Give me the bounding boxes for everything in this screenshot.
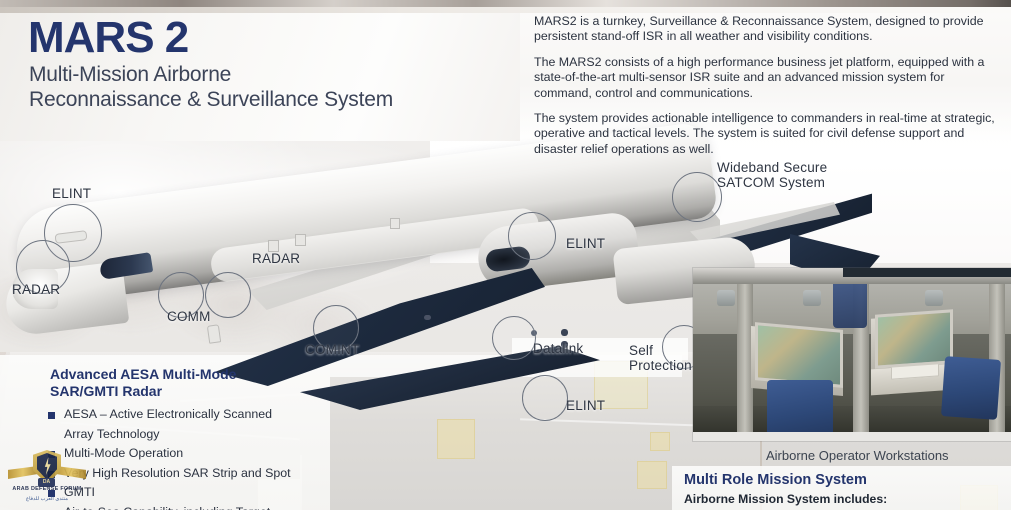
radar-feature-list: AESA – Active Electronically Scanned Arr… [48,406,330,510]
subtitle-line-1: Multi-Mission Airborne [29,63,231,86]
radar-bullet-continuation: Array Technology [48,426,330,444]
cabin-window [717,290,735,306]
radar-bullet: Multi-Mode Operation [48,445,330,463]
intro-paragraph-2: The MARS2 consists of a high performance… [534,55,996,101]
page-title: MARS 2 [28,16,188,60]
radar-title-line-1: Advanced AESA Multi-Mode [50,366,236,382]
cabin-photo-top-dark [843,268,1011,277]
radar-bullet: Air-to-Sea Capability, including Target [48,504,330,510]
self-protection-line2: Protection [629,358,692,373]
operator-display [755,322,843,388]
radar-bullet: GMTI [48,484,330,502]
callout-label-comm: COMM [167,309,211,324]
callout-label-elint-nose: ELINT [52,186,91,201]
page-subtitle: Multi-Mission Airborne Reconnaissance & … [29,62,393,112]
map-field-patch [637,461,667,489]
callout-label-elint-wing: ELINT [566,236,605,251]
radar-title-line-2: SAR/GMTI Radar [50,383,162,399]
comm-antenna [207,324,221,343]
top-edge-strip [0,0,1011,7]
cabin-photo-bottom-edge [693,432,1011,441]
blade-antenna [295,234,306,246]
satcom-label-line2: SATCOM System [717,175,825,190]
sensor-aperture [561,329,568,336]
callout-circle-datalink [492,316,536,360]
mission-system-block: Multi Role Mission System Airborne Missi… [684,472,887,507]
cabin-window [803,290,821,306]
mission-system-title: Multi Role Mission System [684,472,887,489]
self-protection-line1: Self [629,343,653,358]
mission-system-subtitle: Airborne Mission System includes: [684,491,887,507]
callout-label-radar-nose: RADAR [12,282,60,297]
map-field-patch [650,432,670,451]
callout-circle-elint-belly [522,375,568,421]
callout-circle-satcom [672,172,722,222]
logo-name-arabic: منتدى العرب للدفاع [8,496,86,502]
radar-feature-panel: Advanced AESA Multi-Mode SAR/GMTI Radar … [48,366,330,510]
intro-text-block: MARS2 is a turnkey, Surveillance & Recon… [534,14,996,167]
callout-circle-elint-wing [508,212,556,260]
sensor-aperture [424,315,431,320]
radar-bullet: AESA – Active Electronically Scanned [48,406,330,424]
callout-label-elint-belly: ELINT [566,398,605,413]
brochure-page: ELINT RADAR RADAR COMM COMINT ELINT Wide… [0,0,1011,510]
operator-display [875,309,953,368]
radar-bullet: Very High Resolution SAR Strip and Spot [48,465,330,483]
arab-defense-forum-watermark: DA ARAB DEFENSE FORUM منتدى العرب للدفاع [8,444,86,508]
subtitle-line-2: Reconnaissance & Surveillance System [29,88,393,111]
intro-paragraph-1: MARS2 is a turnkey, Surveillance & Recon… [534,14,996,45]
blade-antenna [390,218,400,229]
cabin-photo-caption: Airborne Operator Workstations [766,448,949,463]
logo-name: ARAB DEFENSE FORUM [8,486,86,492]
callout-label-comint: COMINT [305,342,359,357]
callout-circle-comint-a [205,272,251,318]
callout-label-radar-fuselage: RADAR [252,251,300,266]
cabin-photo [693,268,1011,441]
callout-label-datalink: Datalink [533,341,583,356]
operator-seat [941,356,1001,420]
radar-panel-title: Advanced AESA Multi-Mode SAR/GMTI Radar [50,366,330,400]
cabin-window [925,290,943,306]
intro-paragraph-3: The system provides actionable intellige… [534,111,996,157]
